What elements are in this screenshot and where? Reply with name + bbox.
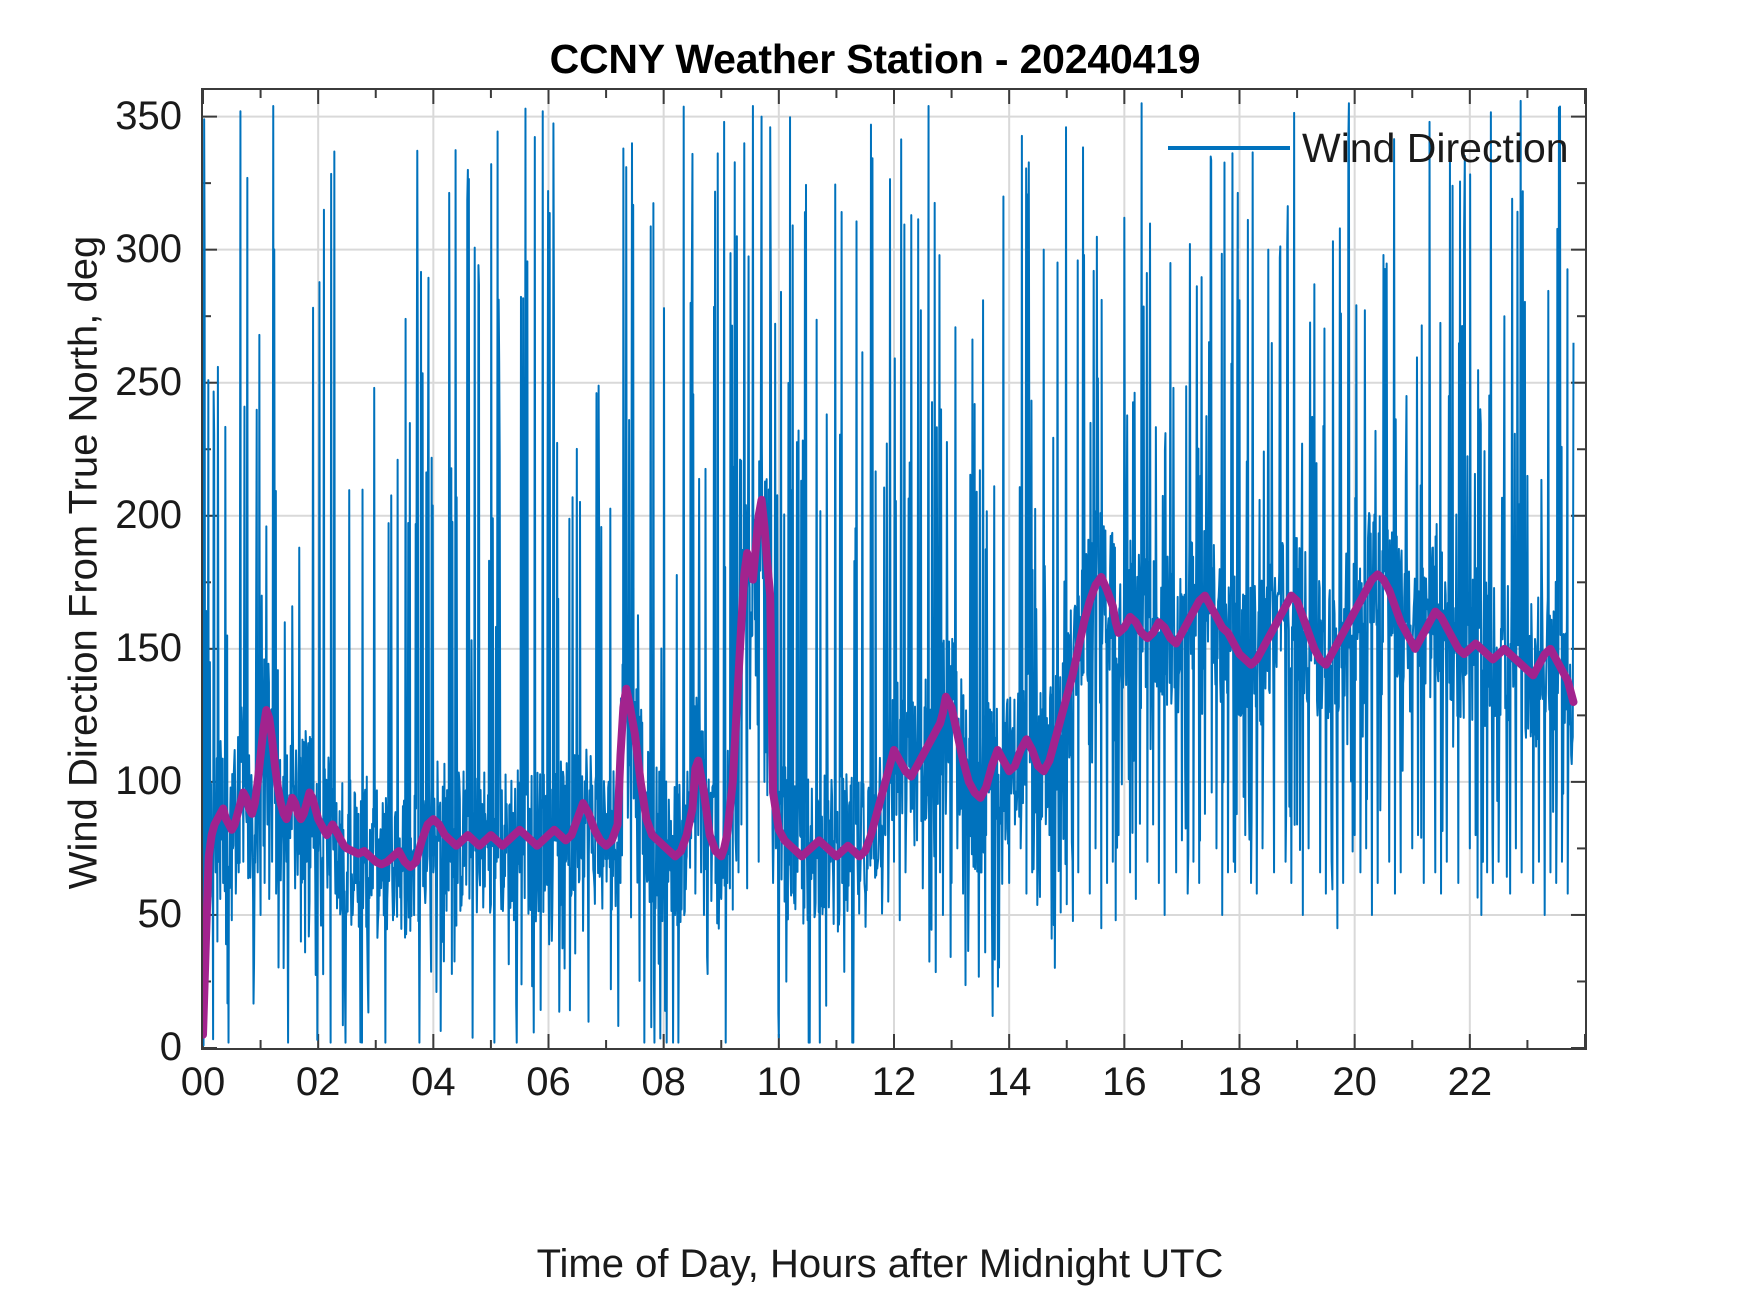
y-tick-label: 100 xyxy=(115,761,182,801)
y-tick-label: 150 xyxy=(115,628,182,668)
x-tick-label: 12 xyxy=(834,1062,954,1102)
plot-area xyxy=(201,88,1587,1050)
x-tick-label: 22 xyxy=(1410,1062,1530,1102)
x-tick-label: 10 xyxy=(719,1062,839,1102)
y-tick-label: 200 xyxy=(115,495,182,535)
y-tick-label: 250 xyxy=(115,362,182,402)
legend-item-label: Wind Direction xyxy=(1302,125,1569,172)
y-tick-label: 50 xyxy=(138,894,183,934)
x-tick-label: 08 xyxy=(604,1062,724,1102)
x-axis-label: Time of Day, Hours after Midnight UTC xyxy=(200,1242,1560,1287)
y-tick-label: 0 xyxy=(160,1027,182,1067)
x-axis-tick-labels: 000204060810121416182022 xyxy=(0,1062,1750,1122)
x-tick-label: 06 xyxy=(489,1062,609,1102)
legend-line-icon xyxy=(1168,146,1290,150)
x-tick-label: 18 xyxy=(1180,1062,1300,1102)
x-tick-label: 04 xyxy=(373,1062,493,1102)
series-wind-direction-raw xyxy=(203,101,1573,1045)
y-tick-label: 300 xyxy=(115,229,182,269)
x-tick-label: 20 xyxy=(1295,1062,1415,1102)
y-tick-label: 350 xyxy=(115,96,182,136)
legend[interactable]: Wind Direction xyxy=(1160,112,1570,184)
x-tick-label: 14 xyxy=(949,1062,1069,1102)
page-title: CCNY Weather Station - 20240419 xyxy=(0,36,1750,83)
chart-figure: CCNY Weather Station - 20240419 Wind Dir… xyxy=(0,0,1750,1313)
plot-canvas xyxy=(203,90,1585,1048)
x-tick-label: 00 xyxy=(143,1062,263,1102)
x-tick-label: 16 xyxy=(1064,1062,1184,1102)
x-tick-label: 02 xyxy=(258,1062,378,1102)
